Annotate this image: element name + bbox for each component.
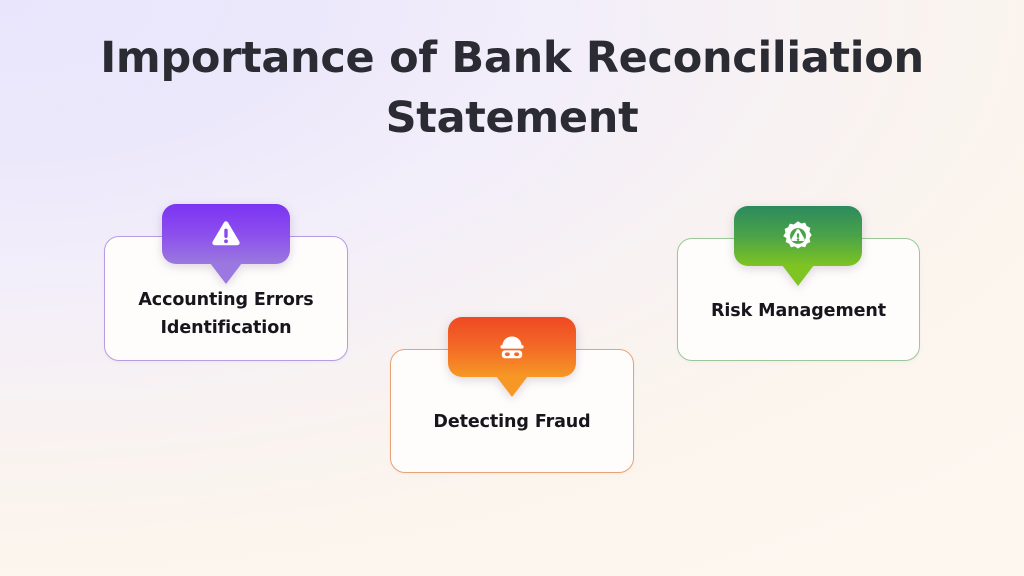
burglar-thief-icon — [494, 329, 530, 365]
card-label-risk-management: Risk Management — [693, 297, 904, 325]
page-title-line-2: Statement — [90, 88, 934, 148]
card-label-detecting-fraud: Detecting Fraud — [415, 408, 608, 436]
card-label-accounting-errors: Accounting Errors Identification — [120, 286, 331, 342]
page-title-line-1: Importance of Bank Reconciliation — [90, 28, 934, 88]
icon-bubble-accounting-errors — [162, 204, 290, 264]
infographic-canvas: Importance of Bank Reconciliation Statem… — [0, 0, 1024, 576]
icon-bubble-detecting-fraud — [448, 317, 576, 377]
warning-triangle-icon — [209, 217, 243, 251]
page-title: Importance of Bank Reconciliation Statem… — [0, 28, 1024, 148]
icon-bubble-risk-management — [734, 206, 862, 266]
gear-warning-icon — [781, 219, 815, 253]
